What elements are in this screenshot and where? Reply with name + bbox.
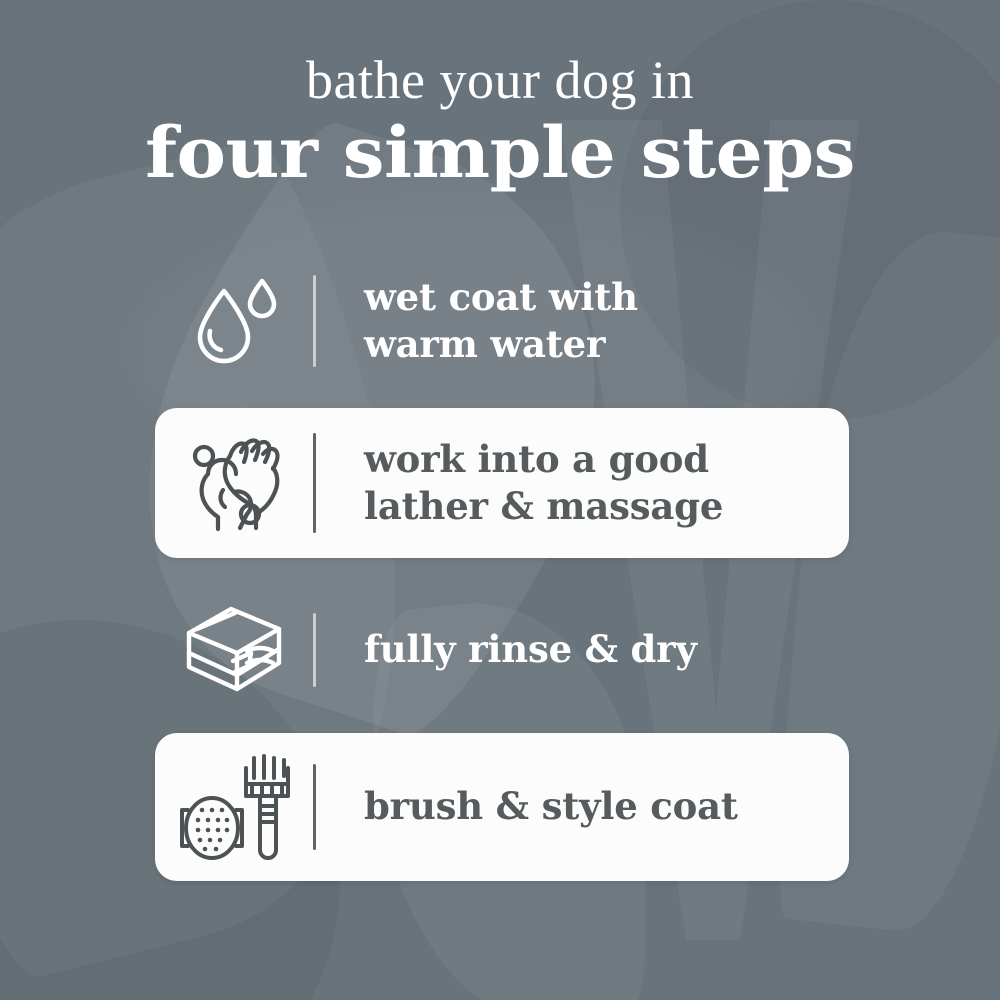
subtitle-text: bathe your dog in <box>0 52 1000 109</box>
step-4-label-line-1: brush & style coat <box>364 783 849 830</box>
step-4-label: brush & style coat <box>316 783 849 830</box>
step-row-1: wet coat with warm water <box>155 258 849 384</box>
step-1-label-line-1: wet coat with <box>364 274 849 321</box>
step-1-icon-slot <box>155 269 313 373</box>
step-2-label-line-2: lather & massage <box>364 483 849 530</box>
step-row-3: fully rinse & dry <box>155 592 849 708</box>
folded-towels-icon <box>175 601 293 699</box>
step-row-4: brush & style coat <box>155 733 849 881</box>
step-2-icon-slot <box>155 428 313 538</box>
step-2-label: work into a good lather & massage <box>316 436 849 531</box>
step-1-label: wet coat with warm water <box>316 274 849 369</box>
step-3-label-line-1: fully rinse & dry <box>364 626 849 673</box>
step-row-2: work into a good lather & massage <box>155 408 849 558</box>
step-4-icon-slot <box>155 748 313 866</box>
hands-lather-icon <box>178 428 290 538</box>
step-3-icon-slot <box>155 601 313 699</box>
step-2-label-line-1: work into a good <box>364 436 849 483</box>
step-3-label: fully rinse & dry <box>316 626 849 673</box>
water-droplet-icon <box>182 269 286 373</box>
step-1-label-line-2: warm water <box>364 321 849 368</box>
brush-comb-icon <box>174 748 294 866</box>
heading-block: bathe your dog in four simple steps <box>0 52 1000 190</box>
infographic-poster: bathe your dog in four simple steps wet … <box>0 0 1000 1000</box>
page-title: four simple steps <box>0 115 1000 191</box>
